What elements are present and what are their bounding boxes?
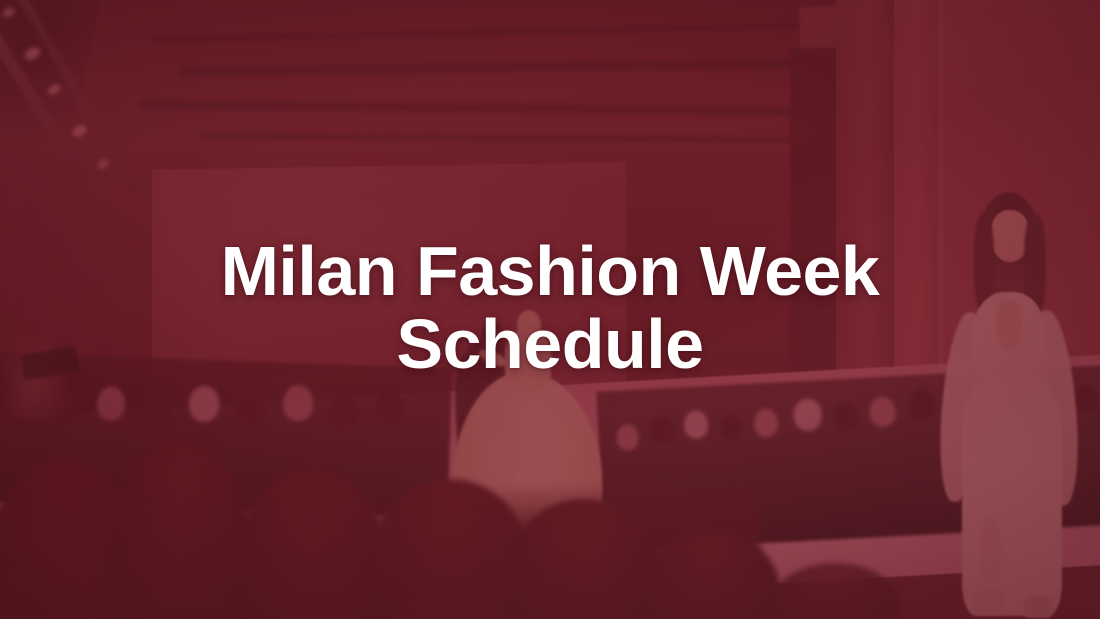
page-title: Milan Fashion Week Schedule	[170, 235, 930, 381]
title-container: Milan Fashion Week Schedule	[0, 0, 1100, 619]
hero-banner: Milan Fashion Week Schedule	[0, 0, 1100, 619]
